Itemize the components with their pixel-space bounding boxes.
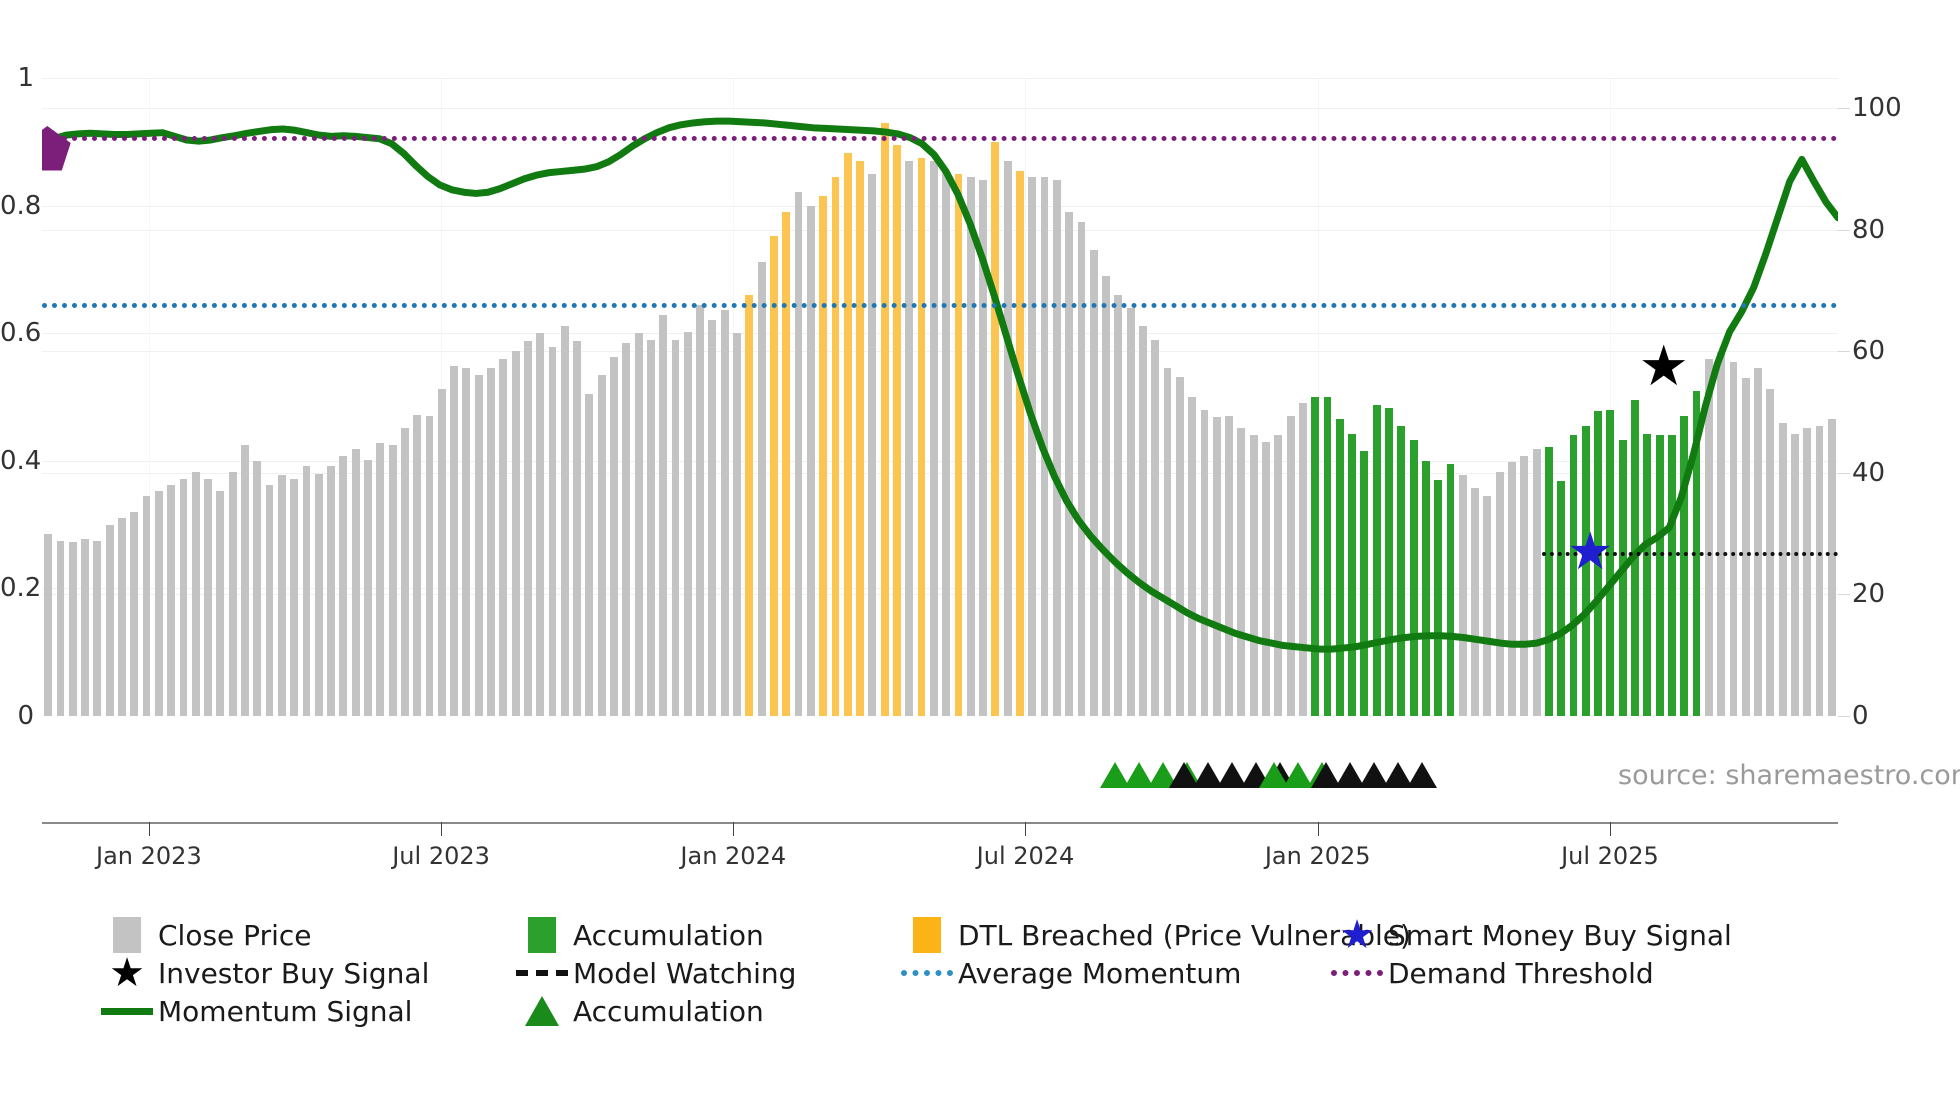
legend-label: Investor Buy Signal [158, 957, 429, 990]
x-axis-tick-label: Jan 2025 [1265, 842, 1371, 870]
legend-item-close-price[interactable]: Close Price [96, 916, 311, 954]
y-axis-right-tick [1838, 716, 1850, 717]
legend-item-investor-buy-signal[interactable]: ★Investor Buy Signal [96, 954, 429, 992]
smart-money-buy-signal-marker: ★ [1567, 526, 1614, 578]
source-note: source: sharemaestro.com [1618, 760, 1960, 791]
legend-item-accumulation[interactable]: Accumulation [511, 916, 764, 954]
legend-item-accumulation[interactable]: Accumulation [511, 992, 764, 1030]
plot-canvas: ⬟★★ [42, 78, 1838, 716]
y-axis-right-label: 20 [1852, 579, 1885, 609]
y-axis-left-label: 0.6 [0, 318, 34, 348]
y-axis-right-tick [1838, 108, 1850, 109]
x-axis-tick-label: Jan 2024 [680, 842, 786, 870]
legend-item-momentum-signal[interactable]: Momentum Signal [96, 992, 412, 1030]
x-axis-tick [1610, 822, 1611, 836]
momentum-signal-line [42, 78, 1838, 716]
legend-swatch-square [113, 917, 141, 953]
x-axis-tick [149, 822, 150, 836]
y-axis-left-label: 0.2 [0, 573, 34, 603]
reference-line-average-momentum [42, 303, 1838, 308]
y-axis-right-label: 80 [1852, 215, 1885, 245]
legend-row: ★Investor Buy SignalModel WatchingAverag… [96, 954, 1886, 992]
legend-label: Accumulation [573, 919, 764, 952]
legend-swatch-dotted [1331, 970, 1383, 976]
y-axis-left-label: 0.8 [0, 191, 34, 221]
y-axis-left-label: 1 [0, 63, 34, 93]
x-axis-line [42, 822, 1838, 824]
reference-line-demand-threshold [42, 136, 1838, 141]
y-axis-right-tick [1838, 594, 1850, 595]
y-axis-right-label: 40 [1852, 458, 1885, 488]
y-axis-right-tick [1838, 230, 1850, 231]
demand-anchor-marker: ⬟ [42, 123, 72, 179]
x-axis-tick-label: Jul 2023 [392, 842, 490, 870]
legend-label: Demand Threshold [1388, 957, 1654, 990]
legend-item-demand-threshold[interactable]: Demand Threshold [1326, 954, 1654, 992]
legend-item-smart-money-buy-signal[interactable]: ★Smart Money Buy Signal [1326, 916, 1732, 954]
chart-root: ⬟★★ 00.20.40.60.81 020406080100 Jan 2023… [0, 0, 1960, 1102]
legend-swatch-square [528, 917, 556, 953]
investor-buy-signal-marker: ★ [1639, 339, 1689, 395]
y-axis-right-label: 0 [1852, 701, 1869, 731]
y-axis-right-tick [1838, 351, 1850, 352]
legend-label: Accumulation [573, 995, 764, 1028]
y-axis-right-label: 100 [1852, 93, 1902, 123]
x-axis-tick [733, 822, 734, 836]
x-axis-tick-label: Jan 2023 [96, 842, 202, 870]
legend-row: Momentum SignalAccumulation [96, 992, 1886, 1030]
legend-label: Smart Money Buy Signal [1388, 919, 1732, 952]
legend-swatch-dotted [901, 970, 953, 976]
legend-swatch-line [101, 1008, 153, 1015]
x-axis-tick [1318, 822, 1319, 836]
legend-label: Average Momentum [958, 957, 1241, 990]
x-axis-tick-label: Jul 2025 [1561, 842, 1659, 870]
legend-row: Close PriceAccumulationDTL Breached (Pri… [96, 916, 1886, 954]
triangle-icon [525, 996, 559, 1026]
chart-legend: Close PriceAccumulationDTL Breached (Pri… [96, 916, 1886, 1030]
legend-label: Close Price [158, 919, 311, 952]
legend-swatch-dashed [516, 970, 568, 976]
legend-item-average-momentum[interactable]: Average Momentum [896, 954, 1241, 992]
y-axis-left-label: 0 [0, 701, 34, 731]
x-axis-tick-label: Jul 2024 [977, 842, 1075, 870]
y-axis-left-label: 0.4 [0, 446, 34, 476]
star-icon: ★ [109, 953, 145, 993]
y-axis-right-label: 60 [1852, 336, 1885, 366]
x-axis-tick [1025, 822, 1026, 836]
legend-label: Momentum Signal [158, 995, 412, 1028]
x-axis-tick [441, 822, 442, 836]
model-watching-triangle [1407, 762, 1437, 788]
star-icon: ★ [1339, 915, 1375, 955]
legend-item-model-watching[interactable]: Model Watching [511, 954, 796, 992]
y-axis-right-tick [1838, 473, 1850, 474]
legend-swatch-square [913, 917, 941, 953]
legend-label: Model Watching [573, 957, 796, 990]
plot-area: ⬟★★ [42, 78, 1838, 716]
